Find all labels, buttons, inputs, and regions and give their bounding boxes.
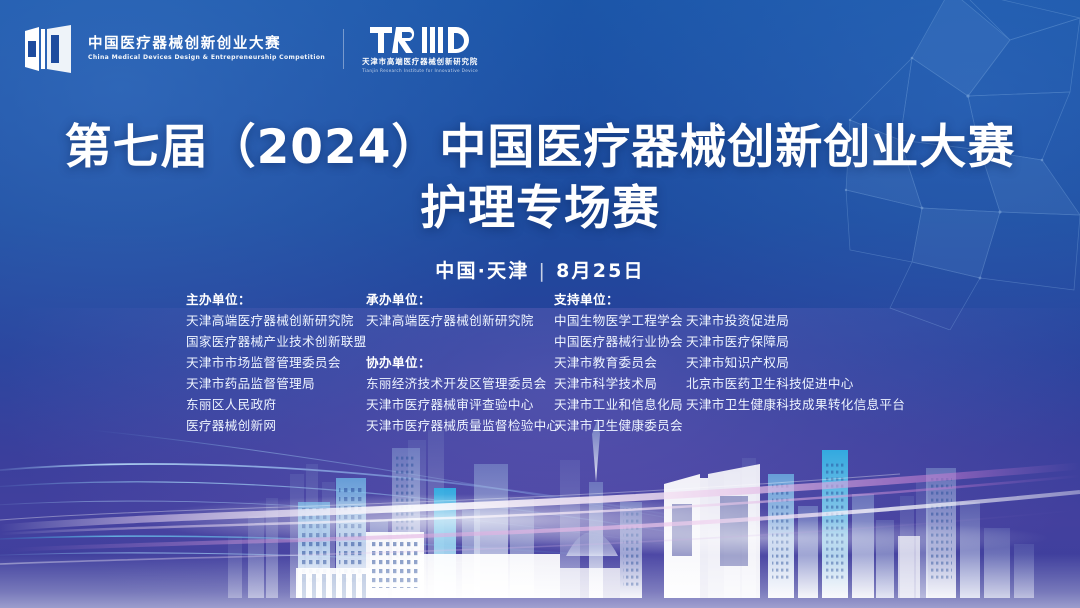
competition-logo-icon: [22, 25, 74, 73]
host-item: 医疗器械创新网: [186, 415, 366, 436]
header-logos: 中国医疗器械创新创业大赛 China Medical Devices Desig…: [22, 18, 478, 80]
organizers-column-host: 主办单位： 天津高端医疗器械创新研究院 国家医疗器械产业技术创新联盟 天津市市场…: [186, 289, 366, 436]
organizers-column-organizer: 承办单位： 天津高端医疗器械创新研究院 协办单位： 东丽经济技术开发区管理委员会…: [366, 289, 554, 436]
supporter-item: 天津市教育委员会: [554, 352, 686, 373]
coorganizer-item: 天津市医疗器械质量监督检验中心: [366, 415, 554, 436]
coorganizer-item: 天津市医疗器械审评查验中心: [366, 394, 554, 415]
supporter-item: 天津市投资促进局: [686, 310, 896, 331]
supporter-item: 天津市医疗保障局: [686, 331, 896, 352]
event-location: 中国·天津: [435, 260, 529, 282]
supporter-item: 中国医疗器械行业协会: [554, 331, 686, 352]
column-spacer: [366, 331, 554, 352]
triid-wordmark-icon: [370, 25, 470, 55]
host-item: 天津市药品监督管理局: [186, 373, 366, 394]
organizers-column-supporters-a: 支持单位： 中国生物医学工程学会 中国医疗器械行业协会 天津市教育委员会 天津市…: [554, 289, 686, 436]
host-item: 天津市市场监督管理委员会: [186, 352, 366, 373]
competition-logo-cn: 中国医疗器械创新创业大赛: [88, 37, 325, 53]
logo-divider: [343, 29, 344, 69]
host-item: 国家医疗器械产业技术创新联盟: [186, 331, 366, 352]
organizers-column-supporters-b: 天津市投资促进局 天津市医疗保障局 天津市知识产权局 北京市医药卫生科技促进中心…: [686, 289, 896, 415]
institute-logo-en: Tianjin Research Institute for Innovativ…: [362, 69, 478, 73]
title-block: 第七届（2024）中国医疗器械创新创业大赛 护理专场赛 中国·天津|8月25日: [0, 118, 1080, 283]
institute-logo: 天津市高端医疗器械创新研究院 Tianjin Research Institut…: [362, 25, 478, 73]
event-subtitle: 中国·天津|8月25日: [0, 256, 1080, 283]
host-item: 天津高端医疗器械创新研究院: [186, 310, 366, 331]
supporter-item: 北京市医药卫生科技促进中心: [686, 373, 896, 394]
supporter-item: 天津市科学技术局: [554, 373, 686, 394]
organizers-block: 主办单位： 天津高端医疗器械创新研究院 国家医疗器械产业技术创新联盟 天津市市场…: [186, 289, 926, 436]
supporters-heading: 支持单位：: [554, 289, 686, 310]
organizer-heading: 承办单位：: [366, 289, 554, 310]
institute-logo-cn: 天津市高端医疗器械创新研究院: [362, 58, 478, 65]
event-date: 8月25日: [556, 260, 645, 282]
supporter-item: 天津市卫生健康委员会: [554, 415, 686, 436]
competition-logo-text: 中国医疗器械创新创业大赛 China Medical Devices Desig…: [88, 37, 325, 62]
competition-logo-en: China Medical Devices Design & Entrepren…: [88, 55, 325, 62]
supporter-item: 天津市知识产权局: [686, 352, 896, 373]
coorganizer-heading: 协办单位：: [366, 352, 554, 373]
host-item: 东丽区人民政府: [186, 394, 366, 415]
supporter-item: 中国生物医学工程学会: [554, 310, 686, 331]
poster-canvas: 中国医疗器械创新创业大赛 China Medical Devices Desig…: [0, 0, 1080, 608]
page-title-line2: 护理专场赛: [0, 178, 1080, 240]
supporter-item: 天津市工业和信息化局: [554, 394, 686, 415]
host-heading: 主办单位：: [186, 289, 366, 310]
supporter-item: 天津市卫生健康科技成果转化信息平台: [686, 394, 896, 415]
organizer-item: 天津高端医疗器械创新研究院: [366, 310, 554, 331]
subtitle-separator: |: [538, 260, 547, 282]
coorganizer-item: 东丽经济技术开发区管理委员会: [366, 373, 554, 394]
page-title-line1: 第七届（2024）中国医疗器械创新创业大赛: [0, 118, 1080, 178]
